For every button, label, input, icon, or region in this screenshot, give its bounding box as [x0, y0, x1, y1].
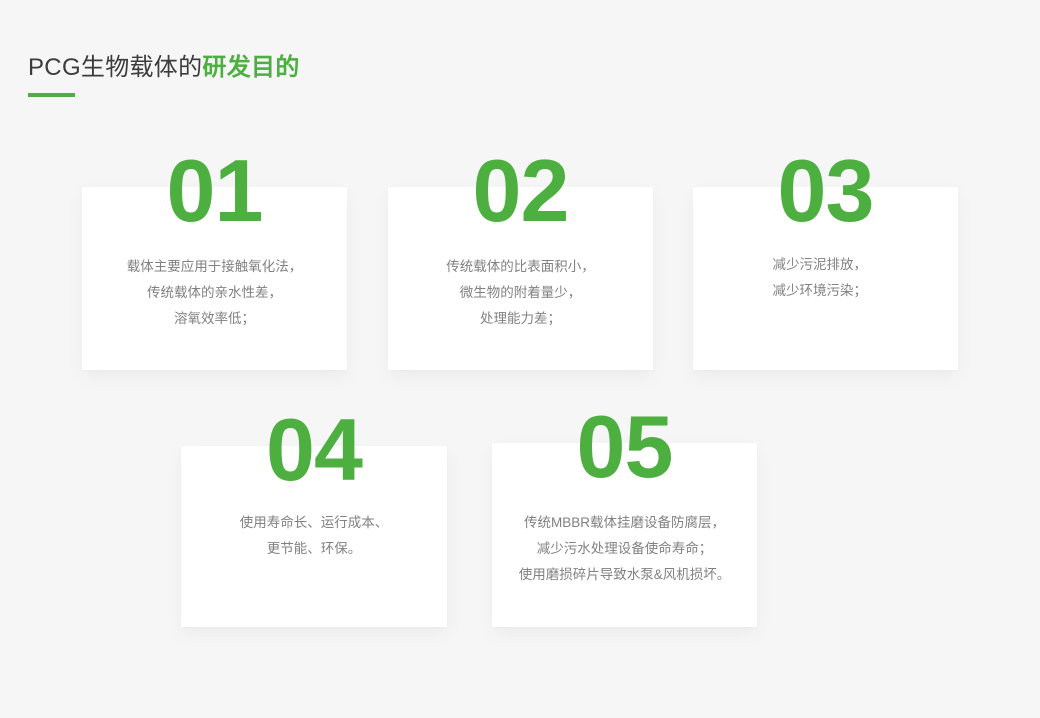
card-body-line: 传统MBBR载体挂磨设备防腐层，	[462, 510, 787, 536]
card-body-line: 处理能力差；	[376, 306, 665, 332]
card-number-04: 04	[181, 406, 447, 494]
card-body-line: 减少环境污染；	[773, 278, 879, 304]
card-number-03: 03	[693, 147, 958, 235]
info-card-05: 05 传统MBBR载体挂磨设备防腐层， 减少污水处理设备使命寿命； 使用磨损碎片…	[492, 443, 757, 627]
info-card-03: 03 减少污泥排放， 减少环境污染；	[693, 187, 958, 370]
card-number-01: 01	[82, 147, 347, 235]
card-body-line: 更节能、环保。	[169, 536, 459, 562]
card-body-line: 传统载体的亲水性差，	[70, 280, 359, 306]
card-body-04: 使用寿命长、运行成本、 更节能、环保。	[169, 510, 459, 562]
card-body-line: 使用寿命长、运行成本、	[169, 510, 459, 536]
card-body-01: 载体主要应用于接触氧化法， 传统载体的亲水性差， 溶氧效率低；	[70, 254, 359, 332]
card-body-02: 传统载体的比表面积小， 微生物的附着量少， 处理能力差；	[376, 254, 665, 332]
card-body-line: 传统载体的比表面积小，	[376, 254, 665, 280]
card-body-line: 减少污泥排放，	[773, 252, 879, 278]
card-body-line: 微生物的附着量少，	[376, 280, 665, 306]
card-body-05: 传统MBBR载体挂磨设备防腐层， 减少污水处理设备使命寿命； 使用磨损碎片导致水…	[462, 510, 787, 588]
info-card-04: 04 使用寿命长、运行成本、 更节能、环保。	[181, 446, 447, 627]
card-grid: 01 载体主要应用于接触氧化法， 传统载体的亲水性差， 溶氧效率低； 02 传统…	[0, 0, 1040, 718]
card-body-line: 使用磨损碎片导致水泵&风机损坏。	[462, 562, 787, 588]
card-number-05: 05	[492, 403, 757, 491]
card-body-line: 载体主要应用于接触氧化法，	[70, 254, 359, 280]
card-number-02: 02	[388, 147, 653, 235]
card-body-03: 减少污泥排放， 减少环境污染；	[681, 252, 970, 304]
info-card-02: 02 传统载体的比表面积小， 微生物的附着量少， 处理能力差；	[388, 187, 653, 370]
card-body-line: 减少污水处理设备使命寿命；	[462, 536, 787, 562]
info-card-01: 01 载体主要应用于接触氧化法， 传统载体的亲水性差， 溶氧效率低；	[82, 187, 347, 370]
card-body-line: 溶氧效率低；	[70, 306, 359, 332]
